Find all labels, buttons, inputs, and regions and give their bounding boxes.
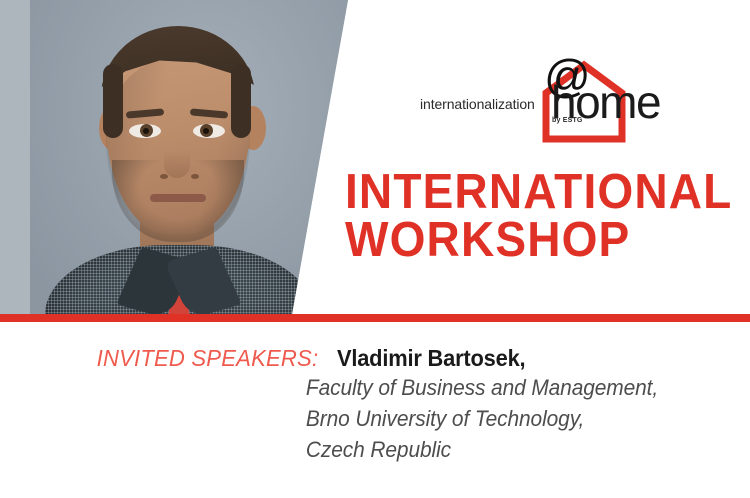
portrait-hair-side-right xyxy=(231,64,251,138)
speaker-affiliation-line: Brno University of Technology, xyxy=(306,403,721,434)
portrait-nostril-left xyxy=(160,174,168,179)
page-title: INTERNATIONAL WORKSHOP xyxy=(345,168,745,264)
portrait-mouth xyxy=(150,194,206,202)
portrait-illustration xyxy=(0,0,350,314)
speaker-headline-row: INVITED SPEAKERS: Vladimir Bartosek, xyxy=(92,345,732,372)
invited-speakers-section: INVITED SPEAKERS: Vladimir Bartosek, Fac… xyxy=(92,345,732,466)
red-divider-rule xyxy=(0,314,750,322)
title-line-2: WORKSHOP xyxy=(345,216,721,264)
speaker-name: Vladimir Bartosek, xyxy=(337,345,525,372)
portrait-nose xyxy=(164,132,190,178)
portrait-pupil-left xyxy=(143,128,149,134)
portrait-pupil-right xyxy=(203,128,209,134)
portrait-nostril-right xyxy=(191,174,199,179)
title-line-1: INTERNATIONAL xyxy=(345,168,721,216)
poster-canvas: internationalization @ home by ESTG INTE… xyxy=(0,0,750,498)
speaker-affiliation-line: Czech Republic xyxy=(306,434,721,465)
speaker-photo xyxy=(0,0,350,314)
portrait-hair-side-left xyxy=(103,64,123,138)
invited-speakers-label: INVITED SPEAKERS: xyxy=(97,345,319,372)
speaker-affiliation-line: Faculty of Business and Management, xyxy=(306,372,721,403)
logo-prefix-word: internationalization xyxy=(420,96,535,112)
logo-byline: by ESTG xyxy=(552,117,583,124)
internationalization-at-home-logo: internationalization @ home by ESTG xyxy=(420,55,650,145)
